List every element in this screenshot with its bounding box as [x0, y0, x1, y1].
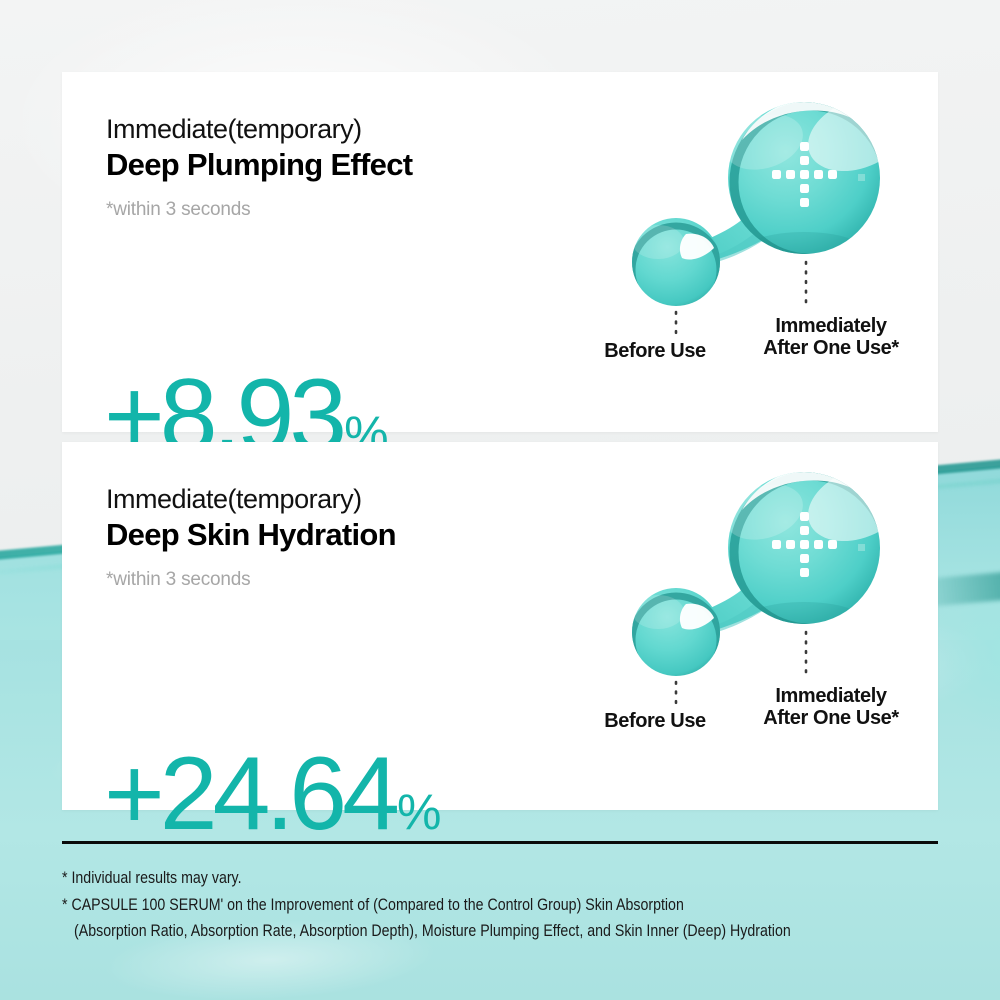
card-subnote: *within 3 seconds: [106, 569, 536, 591]
card-text-block: Immediate(temporary) Deep Skin Hydration…: [106, 484, 536, 591]
label-after-line2: After One Use*: [726, 707, 936, 729]
droplet-figure: Before Use Immediately After One Use*: [558, 452, 938, 792]
stat-card-plumping: Immediate(temporary) Deep Plumping Effec…: [62, 72, 938, 432]
stat-value: +24.64: [104, 736, 395, 852]
label-after-line1: Immediately: [726, 685, 936, 707]
label-after-use: Immediately After One Use*: [726, 685, 936, 730]
card-subnote: *within 3 seconds: [106, 199, 536, 221]
figure-labels: Before Use Immediately After One Use*: [558, 452, 938, 792]
label-after-line1: Immediately: [726, 315, 936, 337]
card-eyebrow: Immediate(temporary): [106, 114, 536, 145]
figure-labels: Before Use Immediately After One Use*: [558, 82, 938, 422]
card-headline: Deep Skin Hydration: [106, 517, 536, 553]
label-after-line2: After One Use*: [726, 337, 936, 359]
footnote-block: * Individual results may vary. * CAPSULE…: [62, 865, 827, 945]
footnote-divider: [62, 841, 938, 844]
card-text-block: Immediate(temporary) Deep Plumping Effec…: [106, 114, 536, 221]
footnote-line-2: * CAPSULE 100 SERUM' on the Improvement …: [62, 892, 827, 919]
label-after-use: Immediately After One Use*: [726, 315, 936, 360]
label-before-use: Before Use: [570, 340, 740, 362]
footnote-line-3: (Absorption Ratio, Absorption Rate, Abso…: [62, 918, 827, 945]
label-before-use: Before Use: [570, 710, 740, 732]
card-eyebrow: Immediate(temporary): [106, 484, 536, 515]
stat-card-hydration: Immediate(temporary) Deep Skin Hydration…: [62, 442, 938, 810]
footnote-line-1: * Individual results may vary.: [62, 865, 827, 892]
card-headline: Deep Plumping Effect: [106, 147, 536, 183]
card-stat: +24.64%: [104, 742, 439, 846]
stat-unit: %: [397, 784, 439, 840]
droplet-figure: Before Use Immediately After One Use*: [558, 82, 938, 422]
